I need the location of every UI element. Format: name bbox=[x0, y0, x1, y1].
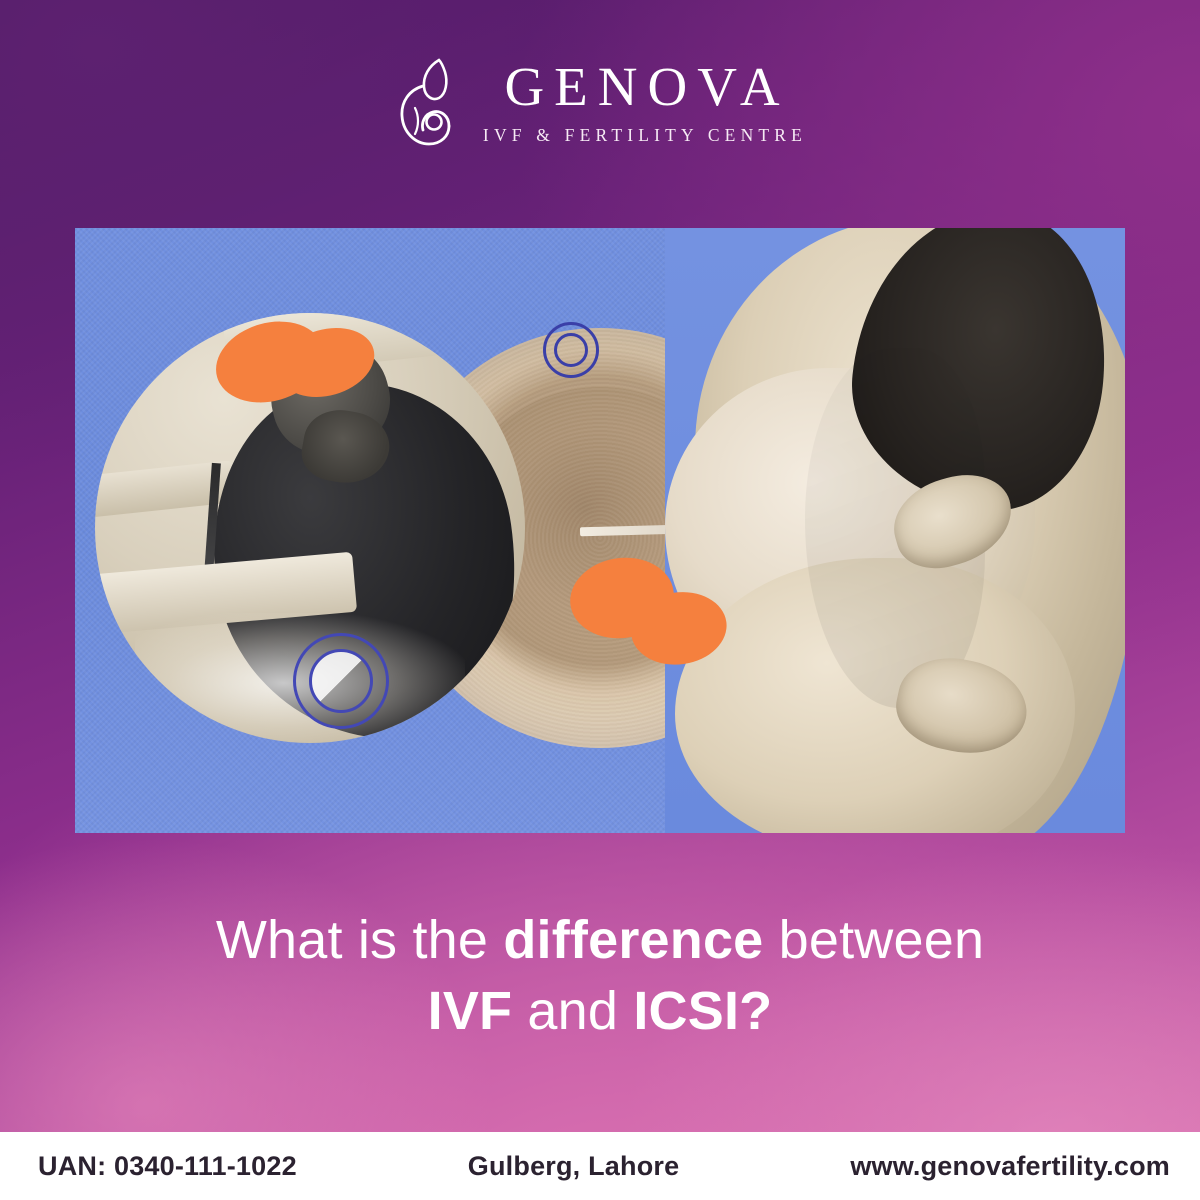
footer-website[interactable]: www.genovafertility.com bbox=[850, 1151, 1170, 1182]
footer-address: Gulberg, Lahore bbox=[468, 1151, 680, 1182]
pregnant-woman-photo bbox=[665, 228, 1125, 833]
mother-and-baby-icon bbox=[393, 56, 455, 148]
footer-phone[interactable]: UAN: 0340-111-1022 bbox=[38, 1151, 297, 1182]
blue-ring-inner-small bbox=[554, 333, 588, 367]
hero-image bbox=[75, 228, 1125, 833]
brand-wordmark: GENOVA IVF & FERTILITY CENTRE bbox=[477, 59, 807, 146]
blue-ring-inner-large bbox=[309, 649, 373, 713]
page-title: What is the difference between IVF and I… bbox=[0, 905, 1200, 1048]
headline-line2-bold1: IVF bbox=[428, 981, 513, 1041]
headline-line2-bold2: ICSI? bbox=[633, 981, 772, 1041]
footer-phone-label: UAN: bbox=[38, 1151, 106, 1181]
brand-logo: GENOVA IVF & FERTILITY CENTRE bbox=[0, 56, 1200, 148]
footer-phone-number: 0340-111-1022 bbox=[114, 1151, 297, 1181]
footer-bar: UAN: 0340-111-1022 Gulberg, Lahore www.g… bbox=[0, 1132, 1200, 1200]
poster-canvas: GENOVA IVF & FERTILITY CENTRE bbox=[0, 0, 1200, 1200]
brand-name: GENOVA bbox=[494, 59, 789, 114]
headline-line1-part2: between bbox=[763, 910, 984, 970]
headline-line2-mid: and bbox=[512, 981, 633, 1041]
headline-line1-part1: What is the bbox=[216, 910, 504, 970]
headline-line1-bold: difference bbox=[503, 910, 763, 970]
brand-tagline: IVF & FERTILITY CENTRE bbox=[477, 125, 807, 146]
